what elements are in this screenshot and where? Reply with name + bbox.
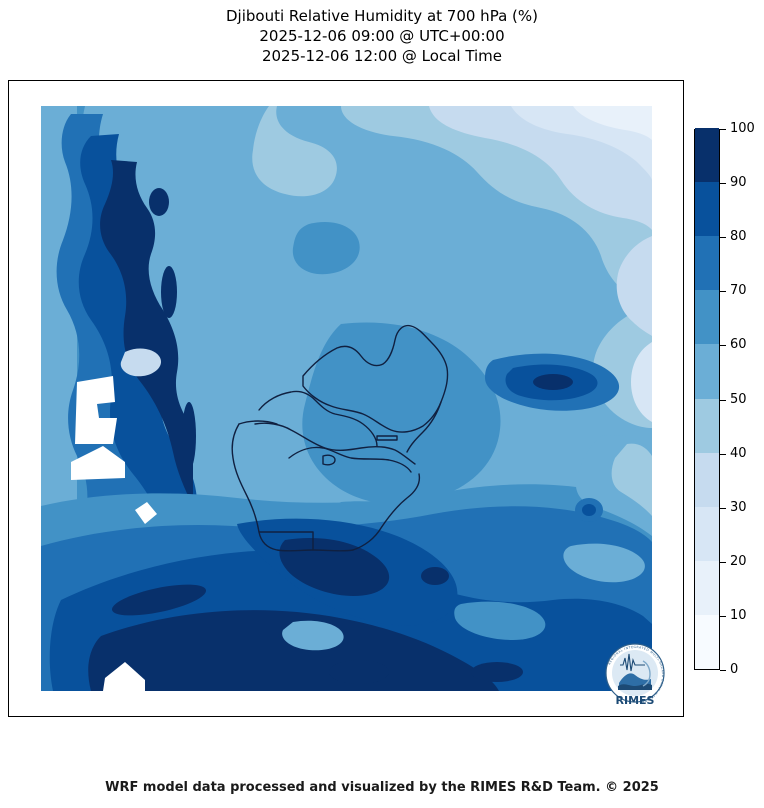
- ne-streak-core: [533, 374, 573, 390]
- colorbar-band: [695, 453, 719, 507]
- colorbar-tick-label: 70: [730, 284, 747, 297]
- colorbar-tick-mark: [720, 454, 726, 455]
- colorbar-tick-label: 40: [730, 447, 747, 460]
- colorbar-tick-label: 80: [730, 230, 747, 243]
- colorbar-tick-mark: [720, 291, 726, 292]
- colorbar-band: [695, 182, 719, 236]
- colorbar-tick-label: 30: [730, 501, 747, 514]
- logo-wordmark: RIMES: [616, 694, 655, 707]
- colorbar-tick-label: 90: [730, 176, 747, 189]
- map-canvas[interactable]: [41, 106, 652, 691]
- map-plot-frame: [8, 80, 684, 717]
- colorbar-band: [695, 128, 719, 182]
- colorbar-band: [695, 290, 719, 344]
- east-spot-80: [582, 504, 596, 516]
- colorbar-tick-mark: [720, 670, 726, 671]
- colorbar-band: [695, 561, 719, 615]
- title-line-variable: Djibouti Relative Humidity at 700 hPa (%…: [0, 6, 764, 26]
- colorbar-tick-mark: [720, 562, 726, 563]
- colorbar-gradient: [694, 129, 720, 670]
- colorbar-band: [695, 507, 719, 561]
- humidity-contour-map: [41, 106, 652, 691]
- colorbar-tick-mark: [720, 183, 726, 184]
- colorbar-tick-mark: [720, 508, 726, 509]
- colorbar-band: [695, 615, 719, 669]
- colorbar-tick-label: 20: [730, 555, 747, 568]
- title-line-utc-time: 2025-12-06 09:00 @ UTC+00:00: [0, 26, 764, 46]
- colorbar: 100 90 80 70 60 50 40 30 20 10 0: [694, 129, 760, 671]
- south-core-2: [329, 660, 389, 684]
- figure-root: Djibouti Relative Humidity at 700 hPa (%…: [0, 0, 764, 808]
- colorbar-tick-mark: [720, 616, 726, 617]
- colorbar-tick-mark: [720, 400, 726, 401]
- title-line-local-time: 2025-12-06 12:00 @ Local Time: [0, 46, 764, 66]
- ridge-core-1: [161, 266, 177, 318]
- south-core-4: [421, 567, 449, 585]
- colorbar-band: [695, 399, 719, 453]
- colorbar-ticks: 100 90 80 70 60 50 40 30 20 10 0: [720, 129, 760, 670]
- colorbar-tick-label: 60: [730, 338, 747, 351]
- colorbar-tick-label: 50: [730, 393, 747, 406]
- colorbar-tick-mark: [720, 345, 726, 346]
- colorbar-tick-label: 100: [730, 122, 755, 135]
- ridge-core-2: [149, 188, 169, 216]
- colorbar-tick-label: 10: [730, 609, 747, 622]
- figure-title: Djibouti Relative Humidity at 700 hPa (%…: [0, 6, 764, 66]
- south-core-3: [471, 662, 523, 682]
- colorbar-tick-mark: [720, 237, 726, 238]
- colorbar-band: [695, 236, 719, 290]
- ridge-core-3: [182, 402, 196, 470]
- colorbar-tick-label: 0: [730, 663, 738, 676]
- footer-credit: WRF model data processed and visualized …: [0, 780, 764, 795]
- colorbar-band: [695, 344, 719, 398]
- colorbar-tick-mark: [720, 129, 726, 130]
- rimes-logo: REGIONAL INTEGRATED MULTI-HAZARD EARLY W…: [601, 641, 669, 709]
